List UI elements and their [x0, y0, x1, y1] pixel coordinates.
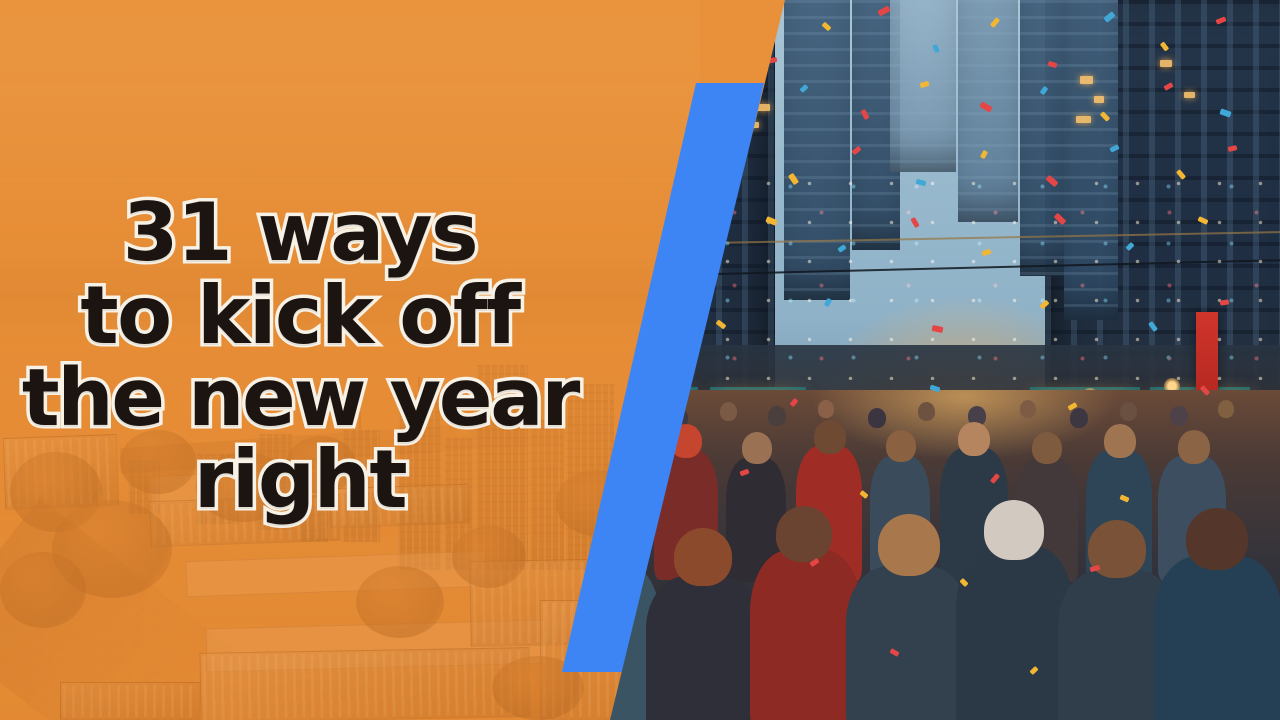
lit-window — [1080, 76, 1093, 84]
lit-window — [1160, 60, 1172, 67]
person-body — [1154, 556, 1280, 720]
headline-block: 31 ways to kick off the new year right — [0, 0, 600, 720]
lit-window — [1076, 116, 1091, 123]
year-digit: 6 — [1070, 150, 1211, 341]
headline-line-4: right — [194, 439, 406, 522]
person-head — [1032, 432, 1062, 464]
person-head — [1088, 520, 1146, 578]
person-head — [1120, 402, 1137, 421]
person-body — [646, 576, 764, 720]
headline-line-3: the new year — [22, 358, 578, 440]
person-head — [720, 402, 737, 421]
person-head — [958, 422, 990, 456]
person-head — [1170, 406, 1188, 426]
headline-line-2: to kick off — [80, 275, 519, 358]
person-head — [984, 500, 1044, 560]
person-head — [878, 514, 940, 576]
year-digit: 0 — [776, 150, 917, 341]
person-head — [1186, 508, 1248, 570]
person-head — [674, 528, 732, 586]
person-head — [1020, 400, 1036, 418]
person-body — [846, 566, 970, 720]
person-head — [918, 402, 935, 421]
lit-window — [1184, 92, 1195, 98]
person-head — [818, 400, 834, 418]
person-body — [956, 546, 1074, 720]
person-head — [1104, 424, 1136, 458]
year-digit: 2 — [923, 150, 1064, 341]
person-head — [868, 408, 886, 428]
person-head — [814, 420, 846, 454]
person-head — [886, 430, 916, 462]
headline-line-1: 31 ways — [123, 192, 478, 275]
person-head — [776, 506, 832, 562]
person-head — [1218, 400, 1234, 418]
lit-window — [1094, 96, 1104, 103]
person-head — [768, 406, 786, 426]
person-head — [1070, 408, 1088, 428]
title-card-canvas: 31 ways to kick off the new year right — [0, 0, 1280, 720]
person-head — [1178, 430, 1210, 464]
person-head — [742, 432, 772, 464]
